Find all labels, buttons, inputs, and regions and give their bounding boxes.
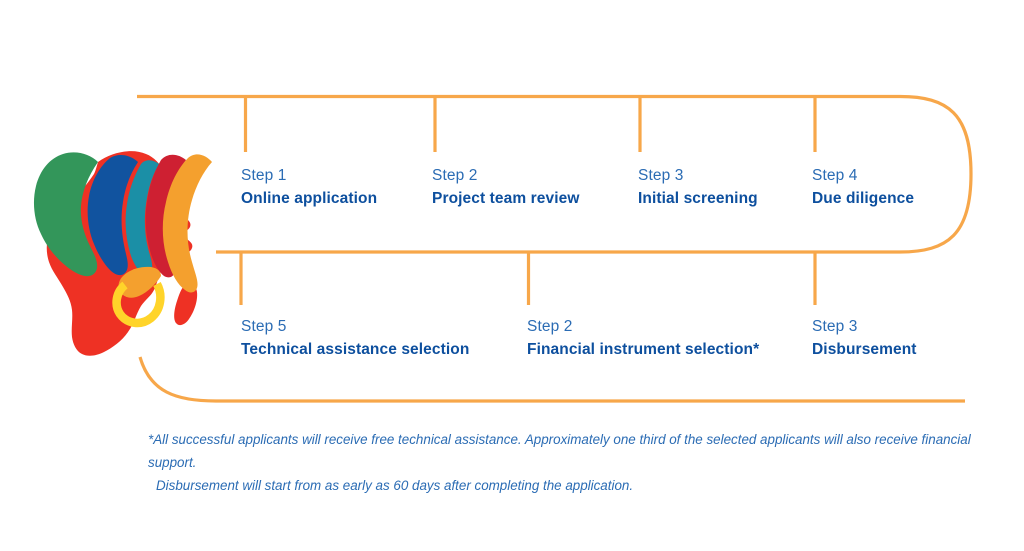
step-title: Technical assistance selection [241,342,469,358]
step-label-row2-1: Step 5 Technical assistance selection [241,319,469,357]
step-number: Step 5 [241,319,469,335]
step-title: Project team review [432,191,580,207]
step-label-row1-3: Step 3 Initial screening [638,168,758,206]
step-number: Step 1 [241,168,377,184]
step-number: Step 4 [812,168,914,184]
footnote-line-2: Disbursement will start from as early as… [148,474,1008,497]
step-title: Initial screening [638,191,758,207]
step-number: Step 3 [812,319,917,335]
step-title: Financial instrument selection* [527,342,759,358]
step-number: Step 2 [432,168,580,184]
step-label-row1-2: Step 2 Project team review [432,168,580,206]
footnote: *All successful applicants will receive … [148,428,1008,497]
step-label-row2-3: Step 3 Disbursement [812,319,917,357]
footnote-line-1: *All successful applicants will receive … [148,428,1008,474]
step-number: Step 3 [638,168,758,184]
step-label-row1-4: Step 4 Due diligence [812,168,914,206]
africa-woman-profile-icon [28,138,248,378]
step-number: Step 2 [527,319,759,335]
infographic-canvas: Step 1 Online application Step 2 Project… [0,0,1024,551]
step-label-row1-1: Step 1 Online application [241,168,377,206]
step-title: Online application [241,191,377,207]
step-title: Disbursement [812,342,917,358]
step-title: Due diligence [812,191,914,207]
step-label-row2-2: Step 2 Financial instrument selection* [527,319,759,357]
